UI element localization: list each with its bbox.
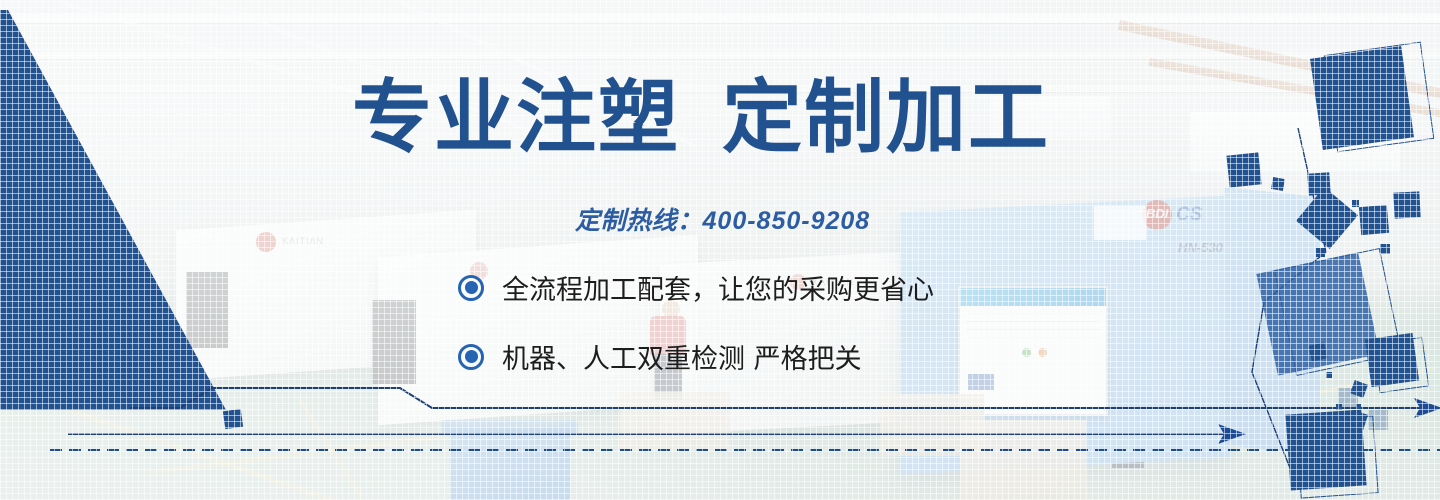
radio-dot-icon	[458, 275, 484, 301]
headline-part-2: 定制加工	[722, 71, 1050, 164]
decor-square-small	[1352, 200, 1359, 207]
list-item-label: 全流程加工配套，让您的采购更省心	[502, 268, 934, 307]
decor-square	[1359, 205, 1389, 235]
decor-square-small	[1380, 244, 1390, 254]
decor-square	[1393, 191, 1420, 218]
decor-square	[1226, 152, 1261, 187]
feature-list: 全流程加工配套，让您的采购更省心 机器、人工双重检测 严格把关	[458, 268, 934, 406]
decor-square-small	[1316, 248, 1325, 257]
list-item: 全流程加工配套，让您的采购更省心	[458, 268, 934, 307]
list-item-label: 机器、人工双重检测 严格把关	[502, 337, 862, 376]
hotline-label: 定制热线：	[575, 207, 703, 235]
decor-square	[1365, 333, 1419, 387]
headline-part-1: 专业注塑	[352, 71, 680, 164]
page-title: 专业注塑定制加工	[352, 78, 1050, 158]
promo-banner: KAITIAN KAITIAN BDI CS HN-530	[0, 0, 1440, 500]
list-item: 机器、人工双重检测 严格把关	[458, 337, 934, 376]
decor-square-small	[1309, 343, 1328, 362]
decor-square	[1285, 409, 1366, 490]
decor-square-small	[1336, 404, 1342, 410]
hotline-line: 定制热线：400-850-9208	[575, 201, 870, 237]
decor-square-small	[1271, 177, 1285, 191]
decor-square-large	[1310, 46, 1414, 150]
hotline-number: 400-850-9208	[703, 207, 871, 235]
radio-dot-icon	[458, 344, 484, 370]
decor-square-small	[1356, 404, 1361, 409]
decor-square-small	[1326, 372, 1332, 378]
